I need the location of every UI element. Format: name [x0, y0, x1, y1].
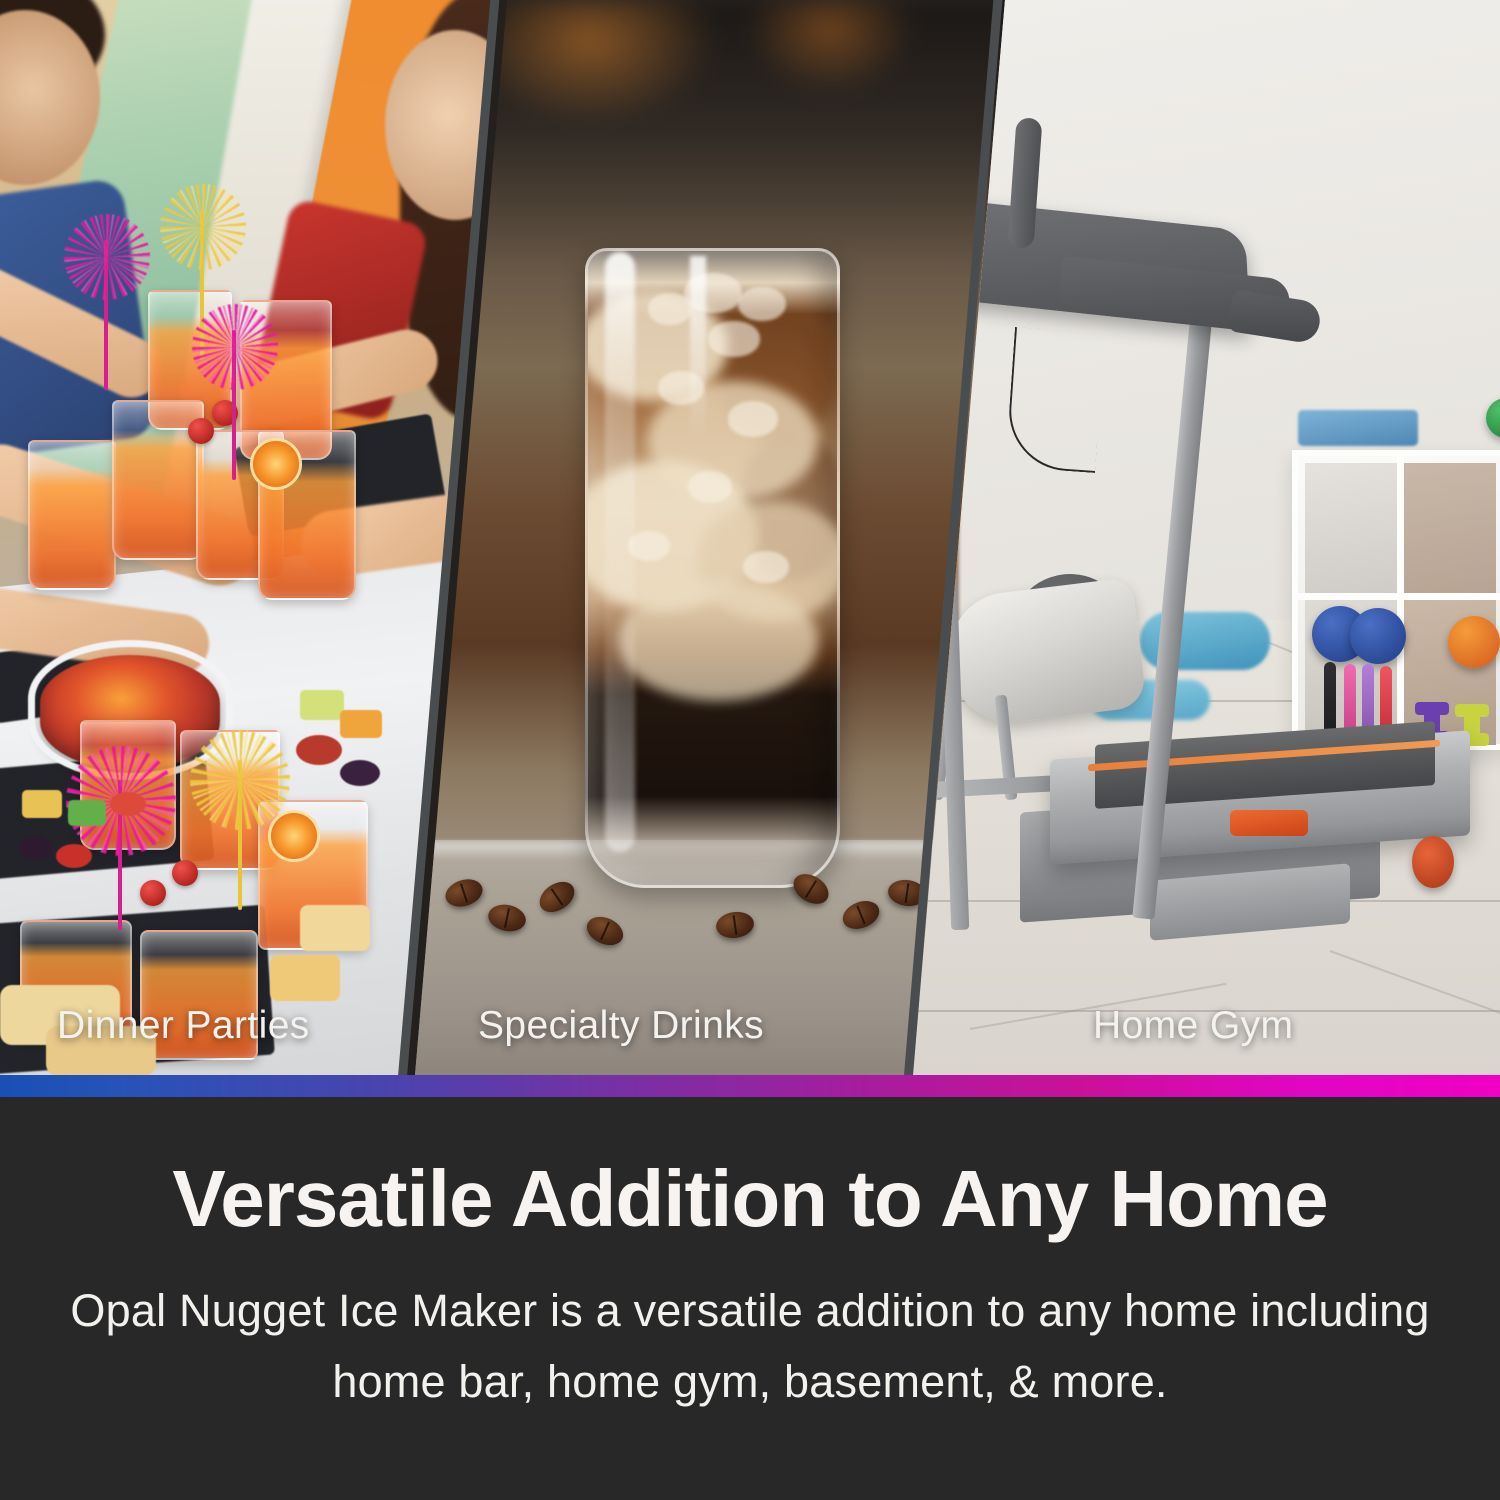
tinsel-pick — [238, 760, 242, 910]
nugget-ice — [708, 321, 760, 357]
fruit-piece — [68, 800, 106, 826]
nugget-ice — [648, 293, 692, 325]
page-title: Versatile Addition to Any Home — [0, 1159, 1500, 1239]
nugget-ice — [743, 551, 789, 583]
fruit-piece — [110, 792, 146, 816]
nugget-ice — [688, 471, 732, 503]
blue-towel — [1298, 410, 1418, 446]
feature-description: Opal Nugget Ice Maker is a versatile add… — [54, 1275, 1446, 1417]
tinsel-pick — [232, 330, 236, 480]
fruit-piece — [296, 735, 342, 765]
fruit-piece — [18, 836, 52, 860]
medicine-ball — [1350, 608, 1406, 664]
feature-text-block: Versatile Addition to Any Home Opal Nugg… — [0, 1097, 1500, 1500]
cube-shelving-unit — [1292, 450, 1500, 750]
orange-slice — [268, 810, 320, 862]
cherry-garnish — [140, 880, 166, 906]
gradient-accent-bar — [0, 1075, 1500, 1097]
fruit-piece — [300, 690, 344, 720]
fruit-piece — [270, 955, 340, 1001]
hero-photo-strip: Dinner Parties Specialty Drinks Home Gym — [0, 0, 1500, 1075]
orange-slice — [250, 438, 302, 490]
tinsel-pick — [104, 240, 108, 390]
glass-highlight — [605, 252, 635, 852]
cocktail-glass — [28, 440, 116, 590]
cream-swirl — [618, 581, 818, 701]
product-feature-card: Dinner Parties Specialty Drinks Home Gym… — [0, 0, 1500, 1500]
fruit-piece — [340, 710, 382, 738]
nugget-ice — [738, 287, 786, 321]
shelf-cell — [1404, 463, 1496, 593]
panel-caption-dinner-parties: Dinner Parties — [57, 1004, 310, 1048]
glass-highlight — [690, 256, 706, 436]
panel-caption-home-gym: Home Gym — [1093, 1004, 1293, 1048]
fruit-piece — [22, 790, 62, 818]
fruit-piece — [56, 844, 92, 868]
shelf-cell — [1305, 463, 1397, 593]
shelf-divider — [1397, 456, 1404, 744]
bike-shroud — [943, 577, 1147, 729]
exercise-ball — [1448, 616, 1500, 668]
panel-caption-specialty-drinks: Specialty Drinks — [478, 1004, 764, 1048]
treadmill-release-latch — [1230, 810, 1308, 836]
treadmill-transport-wheel — [1412, 836, 1454, 888]
cherry-garnish — [172, 860, 198, 886]
fruit-piece — [300, 905, 370, 951]
fruit-piece — [340, 760, 380, 786]
nugget-ice — [728, 401, 778, 437]
cherry-garnish — [188, 418, 214, 444]
